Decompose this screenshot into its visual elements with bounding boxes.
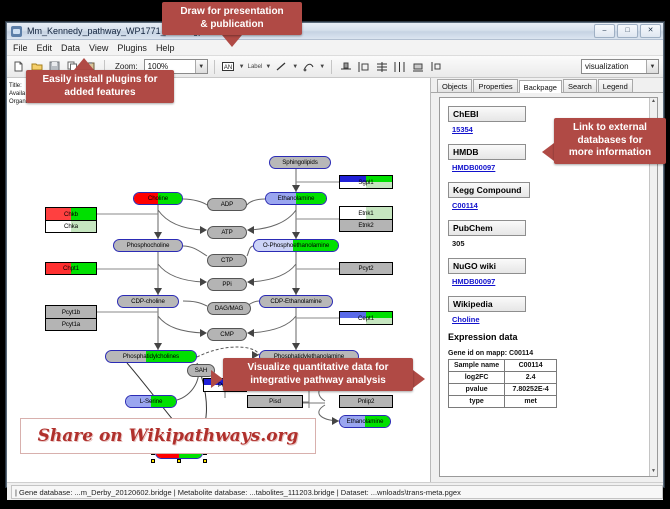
menu-item-view[interactable]: View <box>89 43 108 53</box>
visualization-combobox[interactable]: visualization ▼ <box>581 59 659 74</box>
node-label: Choline <box>148 195 168 202</box>
db-header-wikipedia: Wikipedia <box>448 296 526 312</box>
meta-availability-label: Availa <box>9 90 27 98</box>
label-tool-label[interactable]: Label <box>248 64 263 70</box>
tab-objects[interactable]: Objects <box>437 79 472 92</box>
metabolite-node-cmp[interactable]: CMP <box>207 328 247 341</box>
gene-node-etnk2[interactable]: Etnk2 <box>339 219 393 232</box>
node-label: Ethanolamine <box>347 418 384 425</box>
node-label: CMP <box>220 331 233 338</box>
tab-legend[interactable]: Legend <box>598 79 633 92</box>
expression-data-header: Expression data <box>448 332 641 342</box>
node-label: CDP-choline <box>131 298 165 305</box>
menu-item-file[interactable]: File <box>13 43 28 53</box>
metabolite-node-dag-mag[interactable]: DAG/MAG <box>207 302 251 315</box>
group-icon[interactable] <box>410 59 425 74</box>
maximize-button[interactable]: □ <box>617 24 638 38</box>
minimize-button[interactable]: – <box>594 24 615 38</box>
metabolite-node-atp[interactable]: ATP <box>207 226 247 239</box>
callout-links-line2: databases for <box>560 135 660 148</box>
status-bar: | Gene database: ...m_Derby_20120602.bri… <box>7 482 663 500</box>
chevron-down-icon[interactable]: ▼ <box>646 60 658 73</box>
table-row: type met <box>449 396 557 408</box>
node-label: Pisd <box>269 398 281 405</box>
spacing-icon[interactable] <box>392 59 407 74</box>
metabolite-node-ethanolamine[interactable]: Ethanolamine <box>265 192 327 205</box>
callout-draw-line1: Draw for presentation <box>168 6 296 19</box>
node-label: DAG/MAG <box>215 305 244 312</box>
metabolite-node-phosphocholine[interactable]: Phosphocholine <box>113 239 183 252</box>
metabolite-node-ctp[interactable]: CTP <box>207 254 247 267</box>
close-button[interactable]: ✕ <box>640 24 661 38</box>
selection-handle[interactable] <box>203 459 207 463</box>
node-label: Sgpl1 <box>358 179 373 186</box>
node-label: Sphingolipids <box>282 159 318 166</box>
gene-node-cept1[interactable]: Cept1 <box>339 311 393 325</box>
selection-handle[interactable] <box>177 459 181 463</box>
arc-icon[interactable] <box>301 59 316 74</box>
tab-backpage[interactable]: Backpage <box>519 80 562 93</box>
db-link-kegg-compound[interactable]: C00114 <box>452 201 641 210</box>
callout-plugins: Easily install plugins for added feature… <box>26 70 174 103</box>
db-link-wikipedia[interactable]: Choline <box>452 315 641 324</box>
node-label: PPi <box>222 281 231 288</box>
node-label: CTP <box>221 257 233 264</box>
gene-node-pnlip2[interactable]: Pnlip2 <box>339 395 393 408</box>
metabolite-node-choline-top[interactable]: Choline <box>133 192 183 205</box>
gene-node-sgpl1[interactable]: Sgpl1 <box>339 175 393 189</box>
node-label: CDP-Ethanolamine <box>270 298 321 305</box>
tab-properties[interactable]: Properties <box>473 79 517 92</box>
table-cell-value: met <box>505 396 557 408</box>
menu-item-data[interactable]: Data <box>61 43 80 53</box>
metabolite-node-phosphatidylcholines[interactable]: Phosphatidylcholines <box>105 350 197 363</box>
order-icon[interactable] <box>428 59 443 74</box>
node-label: ADP <box>221 201 233 208</box>
scroll-down-icon[interactable]: ▼ <box>650 468 657 476</box>
node-label: Cept1 <box>358 315 374 322</box>
node-label: Phosphatidylcholines <box>123 353 179 360</box>
node-label: Pcyt1a <box>62 321 80 328</box>
db-link-hmdb[interactable]: HMDB00097 <box>452 163 641 172</box>
chevron-down-icon[interactable]: ▼ <box>319 64 325 70</box>
gene-node-chka[interactable]: Chka <box>45 220 97 233</box>
metabolite-node[interactable]: Sphingolipids <box>269 156 331 169</box>
db-header-chebi: ChEBI <box>448 106 526 122</box>
svg-text:AN: AN <box>224 65 232 71</box>
table-cell-value: 7.80252E-4 <box>505 384 557 396</box>
callout-draw-line2: & publication <box>168 19 296 32</box>
node-label: Etnk2 <box>358 222 373 229</box>
window-controls[interactable]: – □ ✕ <box>594 24 661 38</box>
gene-node-pcyt1a[interactable]: Pcyt1a <box>45 318 97 331</box>
gene-node-chkb[interactable]: Chkb <box>45 207 97 220</box>
gene-node-chpt1[interactable]: Chpt1 <box>45 262 97 275</box>
text-label-icon[interactable]: AN <box>221 59 236 74</box>
stack-icon[interactable] <box>374 59 389 74</box>
meta-organism-label: Organi <box>9 98 27 106</box>
db-header-nugo-wiki: NuGO wiki <box>448 258 526 274</box>
toolbar-separator <box>331 60 332 74</box>
db-value-pubchem: 305 <box>452 239 641 248</box>
db-header-hmdb: HMDB <box>448 144 526 160</box>
table-row: Sample name C00114 <box>449 360 557 372</box>
screenshot-root: Mm_Kennedy_pathway_WP1771_45176.gpml – □… <box>0 0 670 509</box>
metabolite-node-l-serine-left[interactable]: L-Serine <box>125 395 177 408</box>
expression-table: Sample name C00114 log2FC 2.4 pvalue 7.8… <box>448 359 557 408</box>
chevron-down-icon[interactable]: ▼ <box>239 64 245 70</box>
chevron-down-icon[interactable]: ▼ <box>292 64 298 70</box>
side-panel-tabs: Objects Properties Backpage Search Legen… <box>431 78 663 93</box>
gene-node-pisd[interactable]: Pisd <box>247 395 303 408</box>
callout-visualize-arrow-right <box>413 370 425 388</box>
callout-plugins-line1: Easily install plugins for <box>32 74 168 87</box>
node-label: Chka <box>64 223 78 230</box>
metabolite-node-cdp-choline[interactable]: CDP-choline <box>117 295 179 308</box>
chevron-down-icon[interactable]: ▼ <box>195 60 207 73</box>
chevron-down-icon[interactable]: ▼ <box>265 64 271 70</box>
node-label: Phosphocholine <box>127 242 170 249</box>
callout-links-line1: Link to external <box>560 122 660 135</box>
db-header-pubchem: PubChem <box>448 220 526 236</box>
callout-plugins-arrow <box>74 58 94 70</box>
node-label: Chpt1 <box>63 265 79 272</box>
node-label: Ethanolamine <box>278 195 315 202</box>
status-bar-text: | Gene database: ...m_Derby_20120602.bri… <box>11 485 663 499</box>
node-label: Pcyt1b <box>62 309 80 316</box>
callout-links-line3: more information <box>560 147 660 160</box>
menu-item-edit[interactable]: Edit <box>37 43 53 53</box>
menu-bar: File Edit Data View Plugins Help <box>7 40 663 56</box>
selection-handle[interactable] <box>151 459 155 463</box>
db-link-nugo-wiki[interactable]: HMDB00097 <box>452 277 641 286</box>
metabolite-node-adp[interactable]: ADP <box>207 198 247 211</box>
node-label: Etnk1 <box>358 210 373 217</box>
callout-share-box: Share on Wikipathways.org <box>20 418 316 454</box>
table-row: log2FC 2.4 <box>449 372 557 384</box>
node-label: SAH <box>195 367 207 374</box>
node-label: Pnlip2 <box>358 398 375 405</box>
table-cell-value: C00114 <box>505 360 557 372</box>
node-label: O-Phosphoethanolamine <box>263 242 329 249</box>
menu-item-plugins[interactable]: Plugins <box>117 43 147 53</box>
menu-item-help[interactable]: Help <box>156 43 175 53</box>
distribute-icon[interactable] <box>356 59 371 74</box>
db-header-kegg-compound: Kegg Compound <box>448 182 530 198</box>
new-file-icon[interactable] <box>11 59 26 74</box>
toolbar-separator <box>214 60 215 74</box>
gene-node-pcyt1b[interactable]: Pcyt1b <box>45 305 97 318</box>
callout-visualize: Visualize quantitative data for integrat… <box>223 358 413 391</box>
line-icon[interactable] <box>274 59 289 74</box>
callout-visualize-line1: Visualize quantitative data for <box>229 362 407 375</box>
table-row: pvalue 7.80252E-4 <box>449 384 557 396</box>
align-icon[interactable] <box>338 59 353 74</box>
gene-node-pcyt2[interactable]: Pcyt2 <box>339 262 393 275</box>
node-label: ATP <box>221 229 232 236</box>
callout-share-text: Share on Wikipathways.org <box>38 426 299 446</box>
table-cell-key: type <box>449 396 505 408</box>
meta-title-label: Title: <box>9 82 27 90</box>
table-cell-value: 2.4 <box>505 372 557 384</box>
visualization-value: visualization <box>585 62 629 71</box>
pathway-meta-labels: Title: Availa Organi <box>9 82 27 106</box>
gene-id-label: Gene id on mapp: C00114 <box>448 350 641 357</box>
scroll-up-icon[interactable]: ▲ <box>650 98 657 106</box>
callout-draw-arrow <box>222 35 242 47</box>
node-label: L-Serine <box>140 398 163 405</box>
callout-draw: Draw for presentation & publication <box>162 2 302 35</box>
app-logo-icon <box>11 26 22 37</box>
table-cell-key: log2FC <box>449 372 505 384</box>
tab-search[interactable]: Search <box>563 79 597 92</box>
metabolite-node-cdp-ethanolamine[interactable]: CDP-Ethanolamine <box>259 295 333 308</box>
callout-visualize-arrow-left <box>211 370 223 388</box>
gene-node-etnk1[interactable]: Etnk1 <box>339 206 393 219</box>
callout-visualize-line2: integrative pathway analysis <box>229 375 407 388</box>
node-label: Chkb <box>64 211 78 218</box>
metabolite-node-ppi[interactable]: PPi <box>207 278 247 291</box>
window-titlebar: Mm_Kennedy_pathway_WP1771_45176.gpml – □… <box>7 23 663 40</box>
callout-plugins-line2: added features <box>32 87 168 100</box>
table-cell-key: Sample name <box>449 360 505 372</box>
callout-links-arrow <box>542 143 554 161</box>
node-label: Pcyt2 <box>359 265 374 272</box>
callout-links: Link to external databases for more info… <box>554 118 666 164</box>
table-cell-key: pvalue <box>449 384 505 396</box>
metabolite-node-o-phosphoethanolamine[interactable]: O-Phosphoethanolamine <box>253 239 339 252</box>
metabolite-node-ethanolamine-right[interactable]: Ethanolamine <box>339 415 391 428</box>
